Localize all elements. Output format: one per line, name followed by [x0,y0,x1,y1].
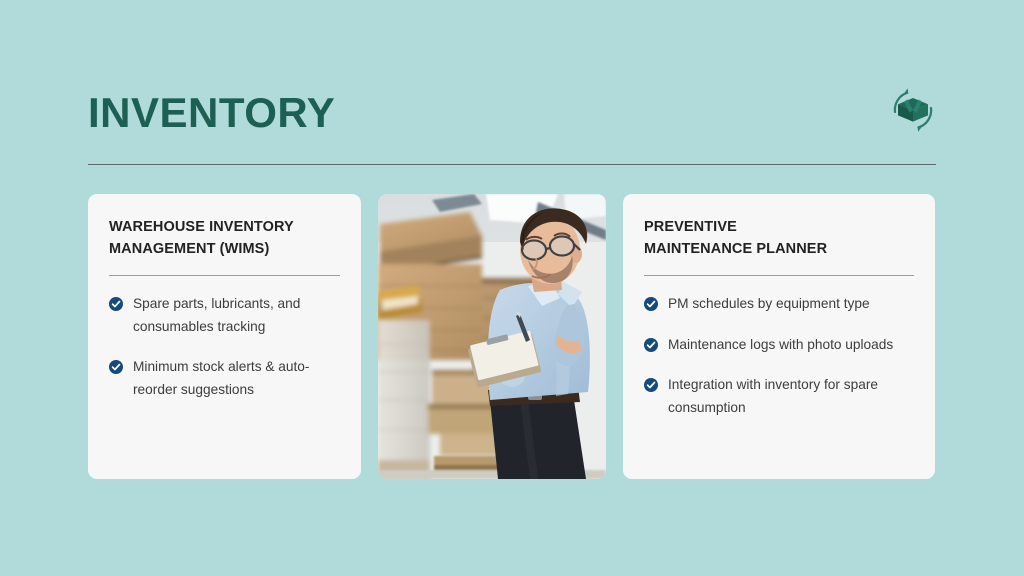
card-preventive-maintenance-planner: PREVENTIVE MAINTENANCE PLANNER PM schedu… [623,194,935,479]
list-item-text: Spare parts, lubricants, and consumables… [133,293,340,338]
card-divider [644,275,914,276]
list-item: PM schedules by equipment type [644,293,914,316]
card-title-line: WAREHOUSE INVENTORY [109,216,340,238]
slide-header: INVENTORY [88,82,936,170]
list-item-text: Integration with inventory for spare con… [668,374,914,419]
list-item: Minimum stock alerts & auto-reorder sugg… [109,356,340,401]
check-circle-icon [109,360,123,374]
check-circle-icon [644,338,658,352]
card-title-line: MAINTENANCE PLANNER [644,238,914,260]
warehouse-photo [378,194,606,479]
card-title: PREVENTIVE MAINTENANCE PLANNER [644,216,914,261]
card-warehouse-inventory-management: WAREHOUSE INVENTORY MANAGEMENT (WIMS) Sp… [88,194,361,479]
check-circle-icon [644,378,658,392]
list-item-text: Minimum stock alerts & auto-reorder sugg… [133,356,340,401]
bullet-list: Spare parts, lubricants, and consumables… [109,293,340,401]
card-title: WAREHOUSE INVENTORY MANAGEMENT (WIMS) [109,216,340,261]
card-title-line: MANAGEMENT (WIMS) [109,238,340,260]
header-divider [88,164,936,165]
list-item: Integration with inventory for spare con… [644,374,914,419]
check-circle-icon [644,297,658,311]
content-columns: WAREHOUSE INVENTORY MANAGEMENT (WIMS) Sp… [88,194,936,479]
check-circle-icon [109,297,123,311]
page-title: INVENTORY [88,92,335,134]
list-item: Maintenance logs with photo uploads [644,334,914,357]
box-recycle-icon [885,82,941,138]
list-item: Spare parts, lubricants, and consumables… [109,293,340,338]
card-divider [109,275,340,276]
list-item-text: PM schedules by equipment type [668,293,870,316]
list-item-text: Maintenance logs with photo uploads [668,334,893,357]
bullet-list: PM schedules by equipment type Maintenan… [644,293,914,419]
card-title-line: PREVENTIVE [644,216,914,238]
